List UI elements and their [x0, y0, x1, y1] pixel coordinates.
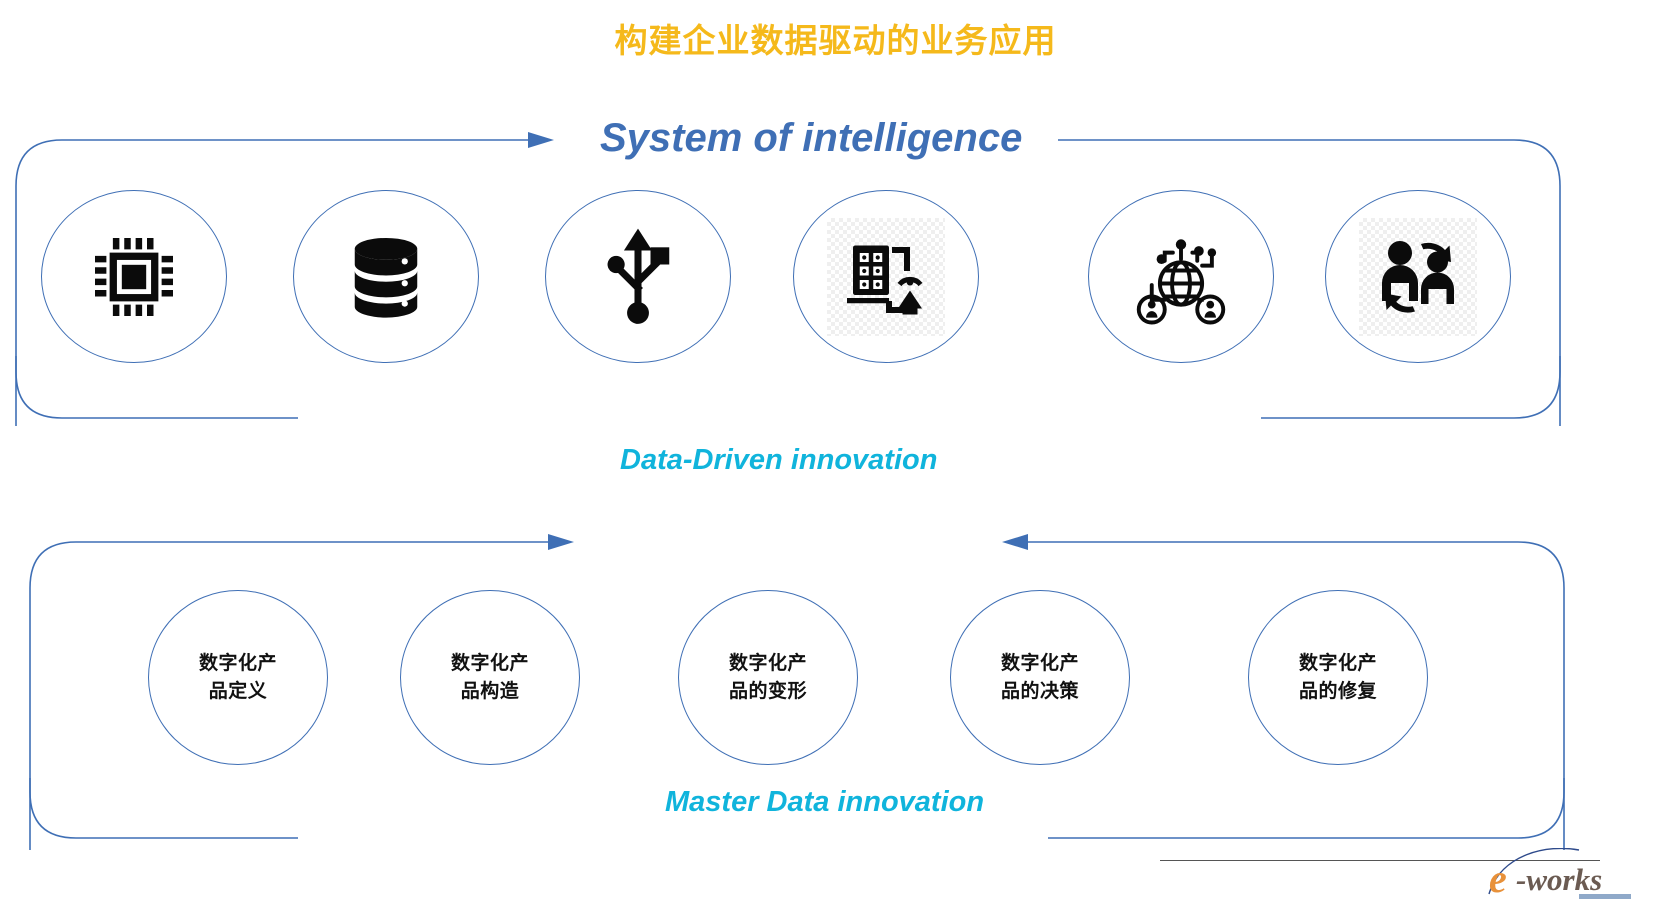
bottom-circle-3-label: 数字化产 品的变形 [729, 650, 807, 705]
bottom-circle-4-label: 数字化产 品的决策 [1001, 650, 1079, 705]
usb-icon [583, 222, 693, 332]
page-title: 构建企业数据驱动的业务应用 [0, 14, 1671, 62]
cpu-chip-icon [79, 222, 189, 332]
bottom-circle-2-label: 数字化产 品构造 [451, 650, 529, 705]
bottom-circle-5[interactable]: 数字化产 品的修复 [1248, 590, 1428, 765]
bottom-circle-2[interactable]: 数字化产 品构造 [400, 590, 580, 765]
bottom-circle-3[interactable]: 数字化产 品的变形 [678, 590, 858, 765]
global-network-icon [1126, 222, 1236, 332]
bottom-circle-1[interactable]: 数字化产 品定义 [148, 590, 328, 765]
database-icon [331, 222, 441, 332]
bottom-circle-4[interactable]: 数字化产 品的决策 [950, 590, 1130, 765]
top-circle-processor[interactable] [41, 190, 227, 363]
top-circle-usb[interactable] [545, 190, 731, 363]
people-exchange-icon [1359, 218, 1477, 336]
smart-building-wifi-icon [827, 218, 945, 336]
top-circle-people-exchange[interactable] [1325, 190, 1511, 363]
bottom-circle-1-label: 数字化产 品定义 [199, 650, 277, 705]
top-circle-smart-building[interactable] [793, 190, 979, 363]
system-of-intelligence-label: System of intelligence [600, 116, 1022, 161]
data-driven-innovation-label: Data-Driven innovation [620, 444, 937, 477]
svg-text:e: e [1489, 856, 1507, 901]
bottom-circle-5-label: 数字化产 品的修复 [1299, 650, 1377, 705]
svg-text:-works: -works [1516, 862, 1602, 897]
top-circle-global-network[interactable] [1088, 190, 1274, 363]
slide-canvas: 构建企业数据驱动的业务应用 System of intelligence [0, 0, 1671, 908]
top-circle-database[interactable] [293, 190, 479, 363]
eworks-watermark: e -works [1483, 848, 1663, 902]
master-data-innovation-label: Master Data innovation [665, 786, 984, 819]
